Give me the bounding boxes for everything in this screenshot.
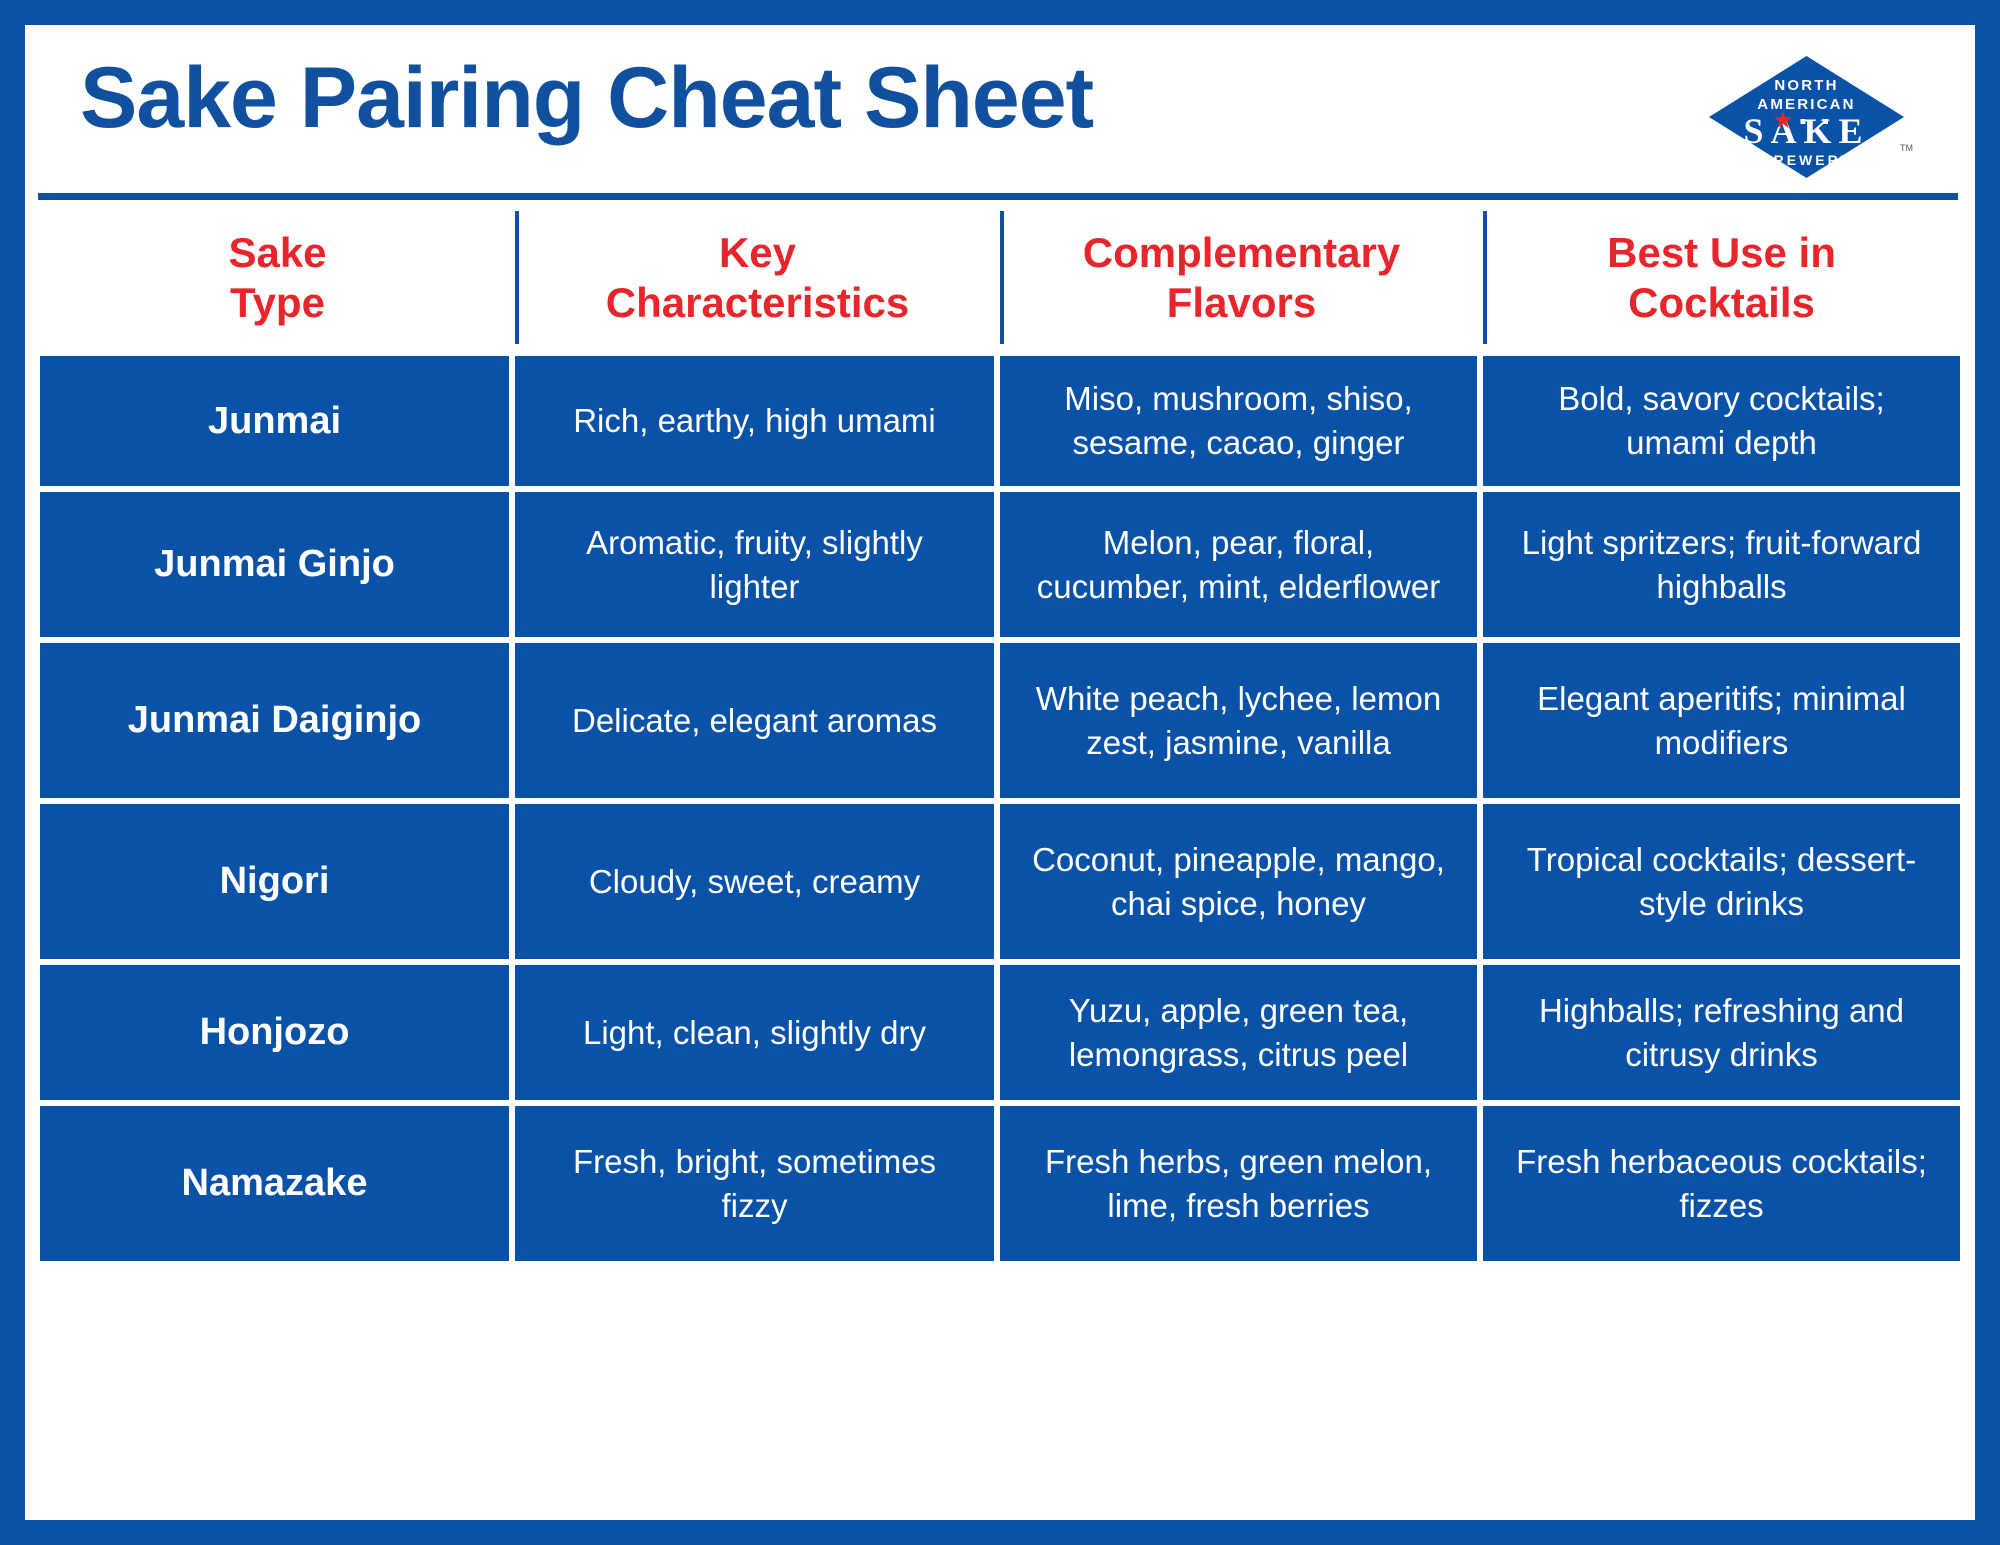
table-row: Junmai Daiginjo Delicate, elegant aromas… — [40, 643, 1960, 798]
column-header-line1: Key — [719, 229, 796, 276]
cell-sake-type: Nigori — [40, 804, 515, 959]
cell-complementary-flavors: Coconut, pineapple, mango, chai spice, h… — [1000, 804, 1483, 959]
column-header-line2: Type — [230, 279, 325, 326]
svg-text:BREWERY: BREWERY — [1760, 152, 1852, 168]
svg-text:SAKE: SAKE — [1743, 111, 1869, 151]
column-header-line1: Complementary — [1083, 229, 1400, 276]
cell-key-characteristics: Rich, earthy, high umami — [515, 356, 1000, 486]
table-row: Namazake Fresh, bright, sometimes fizzy … — [40, 1106, 1960, 1261]
column-header-best-use-in-cocktails: Best Use in Cocktails — [1483, 205, 1960, 350]
cell-best-use-in-cocktails: Bold, savory cocktails; umami depth — [1483, 356, 1960, 486]
table-row: Junmai Rich, earthy, high umami Miso, mu… — [40, 356, 1960, 486]
sheet-frame: Sake Pairing Cheat Sheet NORTH AMERICAN … — [25, 25, 1975, 1520]
cell-key-characteristics: Fresh, bright, sometimes fizzy — [515, 1106, 1000, 1261]
cell-sake-type: Honjozo — [40, 965, 515, 1100]
title-divider — [38, 193, 1958, 200]
cell-complementary-flavors: Fresh herbs, green melon, lime, fresh be… — [1000, 1106, 1483, 1261]
cell-complementary-flavors: Miso, mushroom, shiso, sesame, cacao, gi… — [1000, 356, 1483, 486]
cell-best-use-in-cocktails: Highballs; refreshing and citrusy drinks — [1483, 965, 1960, 1100]
title-bar: Sake Pairing Cheat Sheet NORTH AMERICAN … — [25, 25, 1975, 195]
cell-complementary-flavors: Melon, pear, floral, cucumber, mint, eld… — [1000, 492, 1483, 637]
cell-complementary-flavors: Yuzu, apple, green tea, lemongrass, citr… — [1000, 965, 1483, 1100]
cell-sake-type: Junmai — [40, 356, 515, 486]
cell-best-use-in-cocktails: Fresh herbaceous cocktails; fizzes — [1483, 1106, 1960, 1261]
column-header-line2: Characteristics — [606, 279, 910, 326]
cell-sake-type: Junmai Daiginjo — [40, 643, 515, 798]
cell-key-characteristics: Delicate, elegant aromas — [515, 643, 1000, 798]
table-row: Honjozo Light, clean, slightly dry Yuzu,… — [40, 965, 1960, 1100]
cell-best-use-in-cocktails: Tropical cocktails; dessert-style drinks — [1483, 804, 1960, 959]
column-header-key-characteristics: Key Characteristics — [515, 205, 1000, 350]
svg-text:NORTH: NORTH — [1774, 77, 1838, 94]
column-header-line1: Best Use in — [1607, 229, 1836, 276]
cell-key-characteristics: Aromatic, fruity, slightly lighter — [515, 492, 1000, 637]
cell-key-characteristics: Cloudy, sweet, creamy — [515, 804, 1000, 959]
cell-sake-type: Junmai Ginjo — [40, 492, 515, 637]
trademark-symbol: TM — [1900, 143, 1913, 153]
column-header-complementary-flavors: Complementary Flavors — [1000, 205, 1483, 350]
table-row: Nigori Cloudy, sweet, creamy Coconut, pi… — [40, 804, 1960, 959]
cell-best-use-in-cocktails: Elegant aperitifs; minimal modifiers — [1483, 643, 1960, 798]
sake-pairing-table: Sake Type Key Characteristics Complement… — [40, 205, 1960, 1505]
table-row: Junmai Ginjo Aromatic, fruity, slightly … — [40, 492, 1960, 637]
column-header-line2: Flavors — [1167, 279, 1316, 326]
cell-key-characteristics: Light, clean, slightly dry — [515, 965, 1000, 1100]
table-header-row: Sake Type Key Characteristics Complement… — [40, 205, 1960, 350]
cell-best-use-in-cocktails: Light spritzers; fruit-forward highballs — [1483, 492, 1960, 637]
column-header-line1: Sake — [228, 229, 326, 276]
north-american-sake-brewery-logo: NORTH AMERICAN SAKE BREWERY TM — [1704, 53, 1909, 181]
cell-sake-type: Namazake — [40, 1106, 515, 1261]
column-header-sake-type: Sake Type — [40, 205, 515, 350]
cell-complementary-flavors: White peach, lychee, lemon zest, jasmine… — [1000, 643, 1483, 798]
page-title: Sake Pairing Cheat Sheet — [80, 53, 1093, 143]
column-header-line2: Cocktails — [1628, 279, 1815, 326]
